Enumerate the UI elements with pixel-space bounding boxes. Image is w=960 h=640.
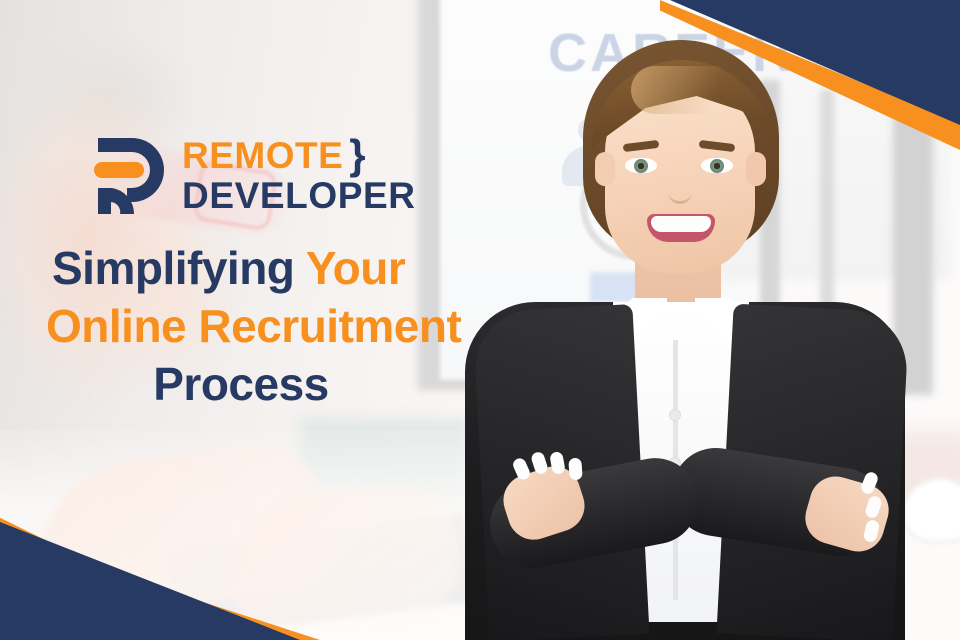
subject-iris-right <box>710 159 724 173</box>
brand-wordmark: REMOTE } DEVELOPER <box>182 137 416 216</box>
brand-logo[interactable]: REMOTE } DEVELOPER <box>94 136 416 216</box>
headline-phrase-online-recruitment: Online Recruitment <box>46 300 461 352</box>
subject-ear-right <box>746 152 766 186</box>
headline: Simplifying Your Online Recruitment Proc… <box>52 240 472 414</box>
subject-eye-right <box>701 158 733 173</box>
headline-word-simplifying: Simplifying <box>52 242 306 294</box>
subject-fingernail <box>568 458 583 481</box>
promo-banner: CAREER <box>0 0 960 640</box>
brand-wordmark-line-1: REMOTE } <box>182 137 416 174</box>
brand-word-remote: REMOTE <box>182 137 343 174</box>
subject-mouth <box>647 214 715 242</box>
headline-line-2: Online Recruitment <box>46 298 472 356</box>
headline-word-process: Process <box>153 358 329 410</box>
brand-brace-glyph: } <box>349 137 365 174</box>
headline-line-3: Process <box>52 356 472 414</box>
remote-developer-monogram-icon <box>94 136 168 216</box>
subject-teeth <box>651 216 711 232</box>
subject-iris-left <box>634 159 648 173</box>
subject-businesswoman <box>455 40 925 640</box>
subject-eye-left <box>625 158 657 173</box>
subject-nose <box>668 178 692 204</box>
subject-hair-highlight <box>631 66 741 114</box>
subject-shirt-button <box>670 410 680 420</box>
headline-line-1: Simplifying Your <box>52 240 472 298</box>
brand-word-developer: DEVELOPER <box>182 176 416 216</box>
headline-word-your: Your <box>306 242 405 294</box>
subject-ear-left <box>595 152 615 186</box>
